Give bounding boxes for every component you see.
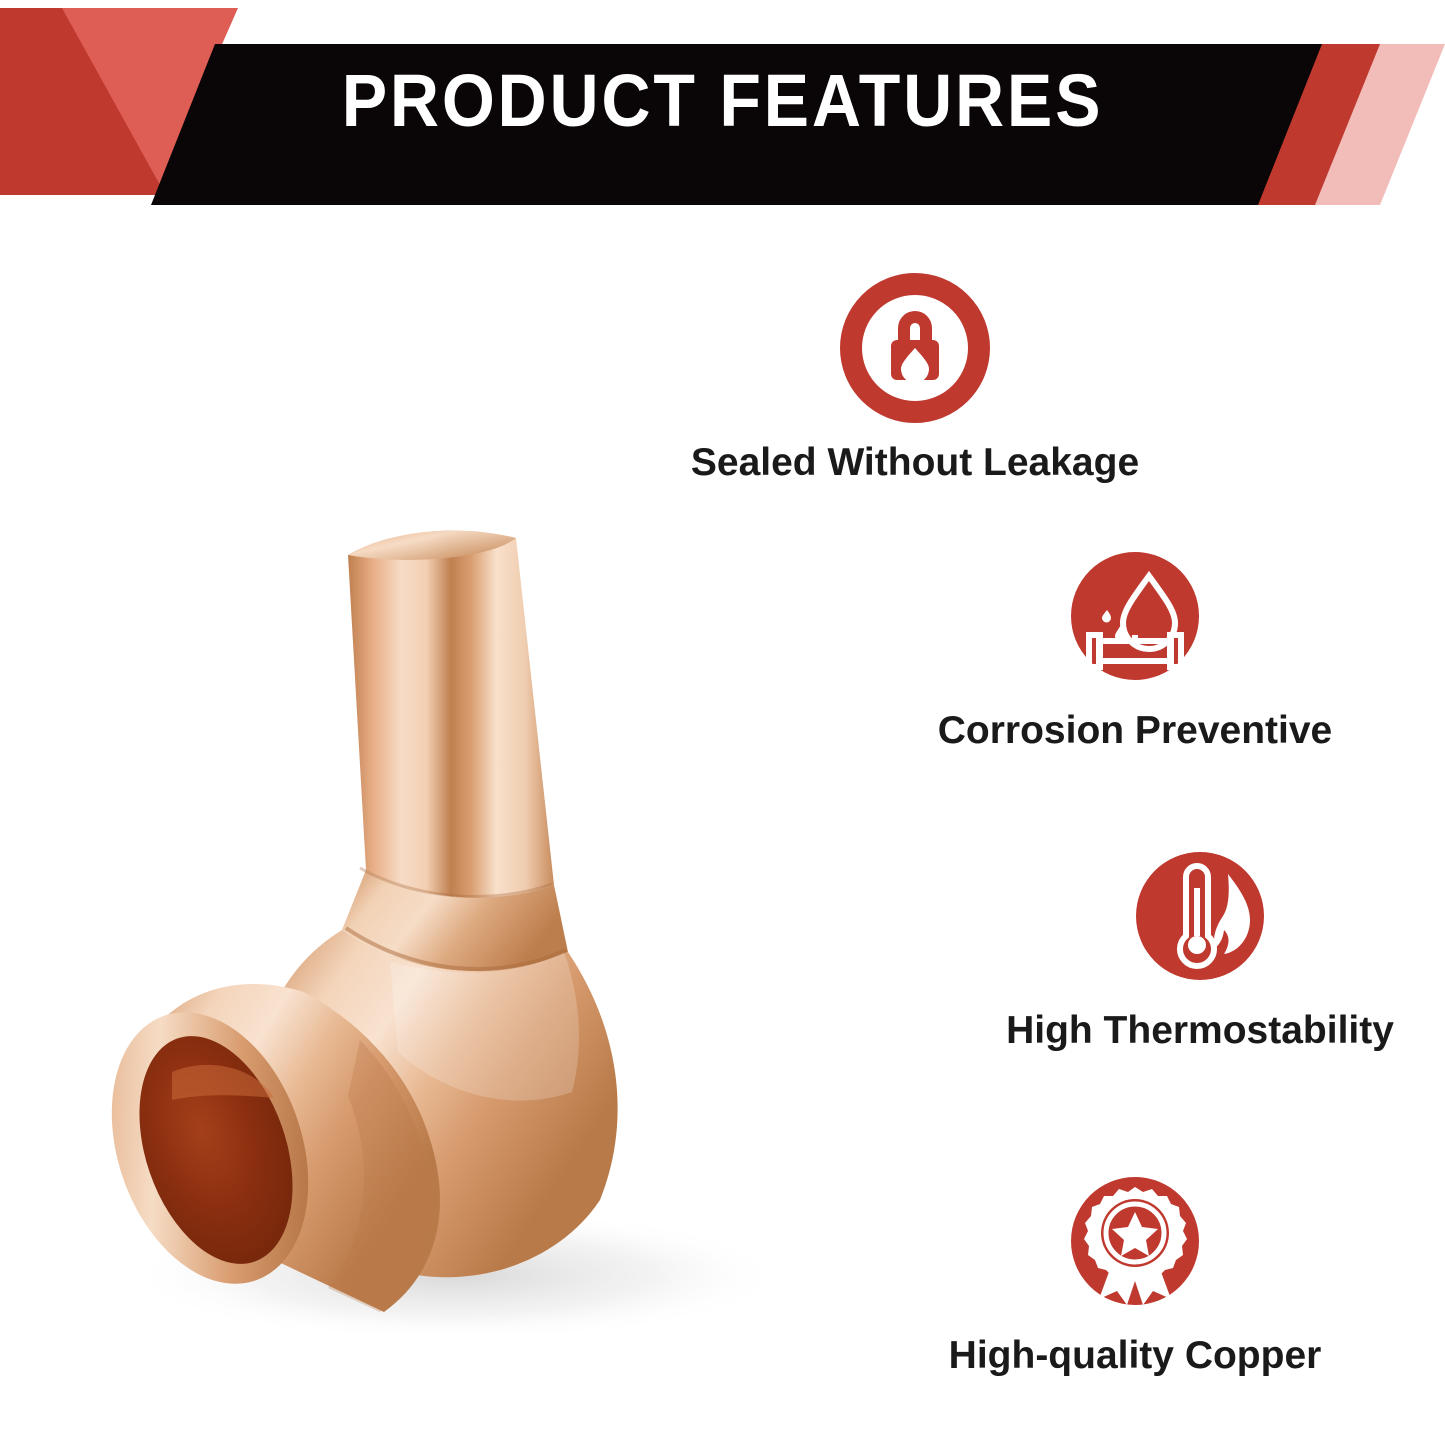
feature-label: High-quality Copper	[949, 1333, 1322, 1379]
product-features-infographic: PRODUCT FEATURES	[0, 0, 1445, 1445]
feature-item-corrosion-preventive: Corrosion Preventive	[945, 540, 1325, 754]
header-banner: PRODUCT FEATURES	[0, 0, 1445, 215]
pipe-drop-icon	[1059, 540, 1211, 692]
feature-item-high-quality-copper: High-quality Copper	[935, 1165, 1335, 1379]
page-title: PRODUCT FEATURES	[58, 55, 1387, 147]
product-photo-copper-elbow	[60, 500, 960, 1370]
copper-upper-barrel	[348, 531, 554, 898]
feature-label: Sealed Without Leakage	[691, 440, 1139, 486]
feature-label: Corrosion Preventive	[938, 708, 1332, 754]
feature-item-sealed-without-leakage: Sealed Without Leakage	[705, 272, 1125, 486]
copper-elbow-illustration	[60, 500, 960, 1370]
feature-item-high-thermostability: High Thermostability	[1005, 840, 1395, 1054]
thermometer-flame-icon	[1124, 840, 1276, 992]
quality-badge-icon	[1059, 1165, 1211, 1317]
feature-label: High Thermostability	[1006, 1008, 1394, 1054]
lock-drop-icon	[839, 272, 991, 424]
